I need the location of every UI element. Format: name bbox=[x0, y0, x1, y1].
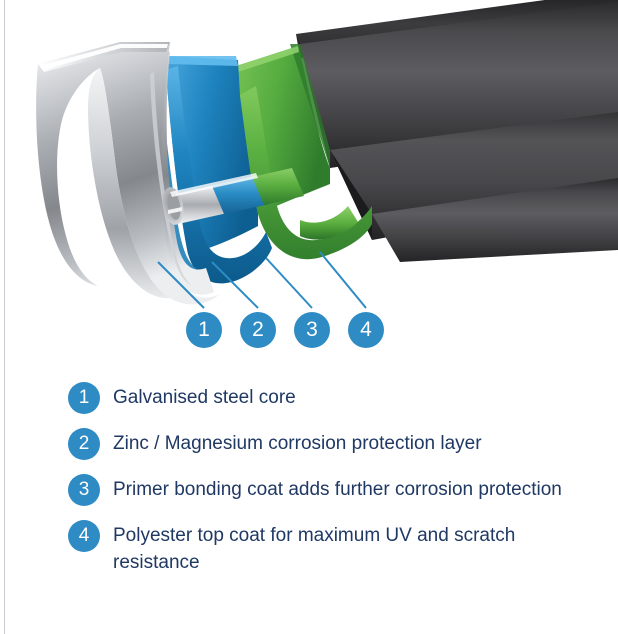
legend-badge-2: 2 bbox=[68, 428, 100, 460]
callout-badge-4[interactable]: 4 bbox=[348, 312, 384, 348]
leader-line-4 bbox=[320, 252, 366, 308]
callout-badge-3[interactable]: 3 bbox=[294, 312, 330, 348]
callout-badge-1[interactable]: 1 bbox=[186, 312, 222, 348]
legend-item-3: 3 Primer bonding coat adds further corro… bbox=[0, 474, 618, 506]
callout-badge-2[interactable]: 2 bbox=[240, 312, 276, 348]
legend-label-1: Galvanised steel core bbox=[113, 382, 296, 411]
legend-label-4: Polyester top coat for maximum UV and sc… bbox=[113, 520, 583, 576]
legend-label-3: Primer bonding coat adds further corrosi… bbox=[113, 474, 562, 503]
leader-line-3 bbox=[266, 258, 312, 308]
legend-item-1: 1 Galvanised steel core bbox=[0, 382, 618, 414]
legend-label-2: Zinc / Magnesium corrosion protection la… bbox=[113, 428, 482, 457]
legend-badge-1: 1 bbox=[68, 382, 100, 414]
legend-item-4: 4 Polyester top coat for maximum UV and … bbox=[0, 520, 618, 576]
legend: 1 Galvanised steel core 2 Zinc / Magnesi… bbox=[0, 382, 618, 590]
legend-badge-4: 4 bbox=[68, 520, 100, 552]
legend-badge-3: 3 bbox=[68, 474, 100, 506]
legend-item-2: 2 Zinc / Magnesium corrosion protection … bbox=[0, 428, 618, 460]
